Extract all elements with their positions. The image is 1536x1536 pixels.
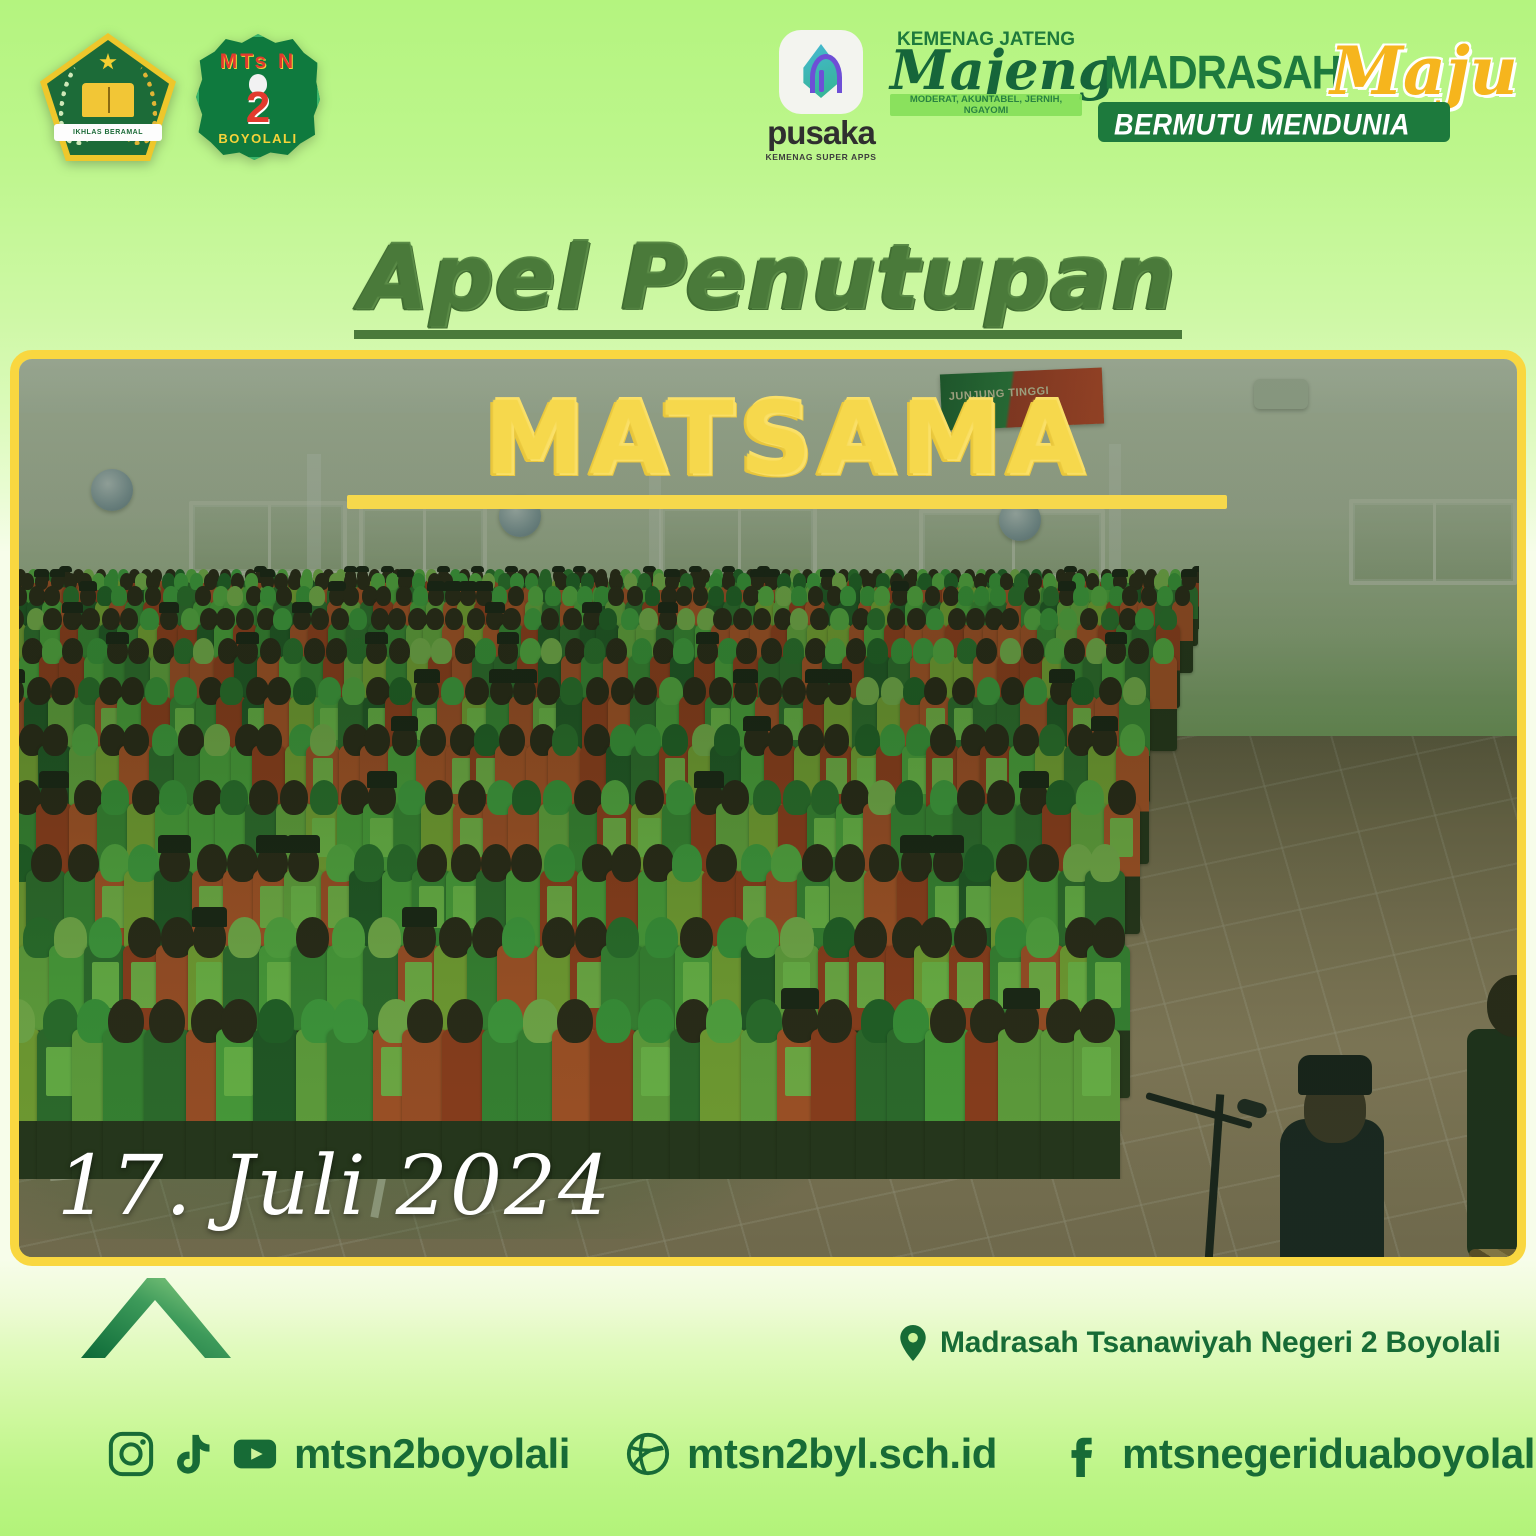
- student-hijab: [1135, 608, 1153, 631]
- peci-cap-icon: [1003, 988, 1041, 1009]
- student-head: [216, 608, 234, 631]
- peci-cap-icon: [827, 669, 852, 683]
- student-hijab: [309, 586, 325, 606]
- student-hijab: [204, 724, 230, 756]
- student-head: [508, 586, 524, 606]
- student-head: [499, 724, 525, 756]
- student-head: [425, 780, 453, 815]
- peci-cap-icon: [781, 988, 819, 1009]
- student-hijab: [645, 917, 678, 958]
- peci-cap-icon: [34, 569, 49, 577]
- student-hijab: [333, 999, 369, 1043]
- student-head: [736, 638, 757, 664]
- student-hijab: [349, 608, 367, 631]
- student-head: [511, 844, 542, 882]
- student-hijab: [606, 917, 639, 958]
- student-hijab: [990, 586, 1006, 606]
- student-head: [128, 638, 149, 664]
- peci-cap-icon: [1112, 569, 1127, 577]
- student-head: [943, 586, 959, 606]
- student-hijab: [1071, 677, 1094, 706]
- peci-cap-icon: [582, 602, 602, 613]
- student-hijab: [159, 780, 187, 815]
- student-hijab: [441, 677, 464, 706]
- student-head: [761, 638, 782, 664]
- website-globe-icon[interactable]: [625, 1431, 671, 1477]
- student-head: [930, 999, 966, 1043]
- peci-cap-icon: [459, 581, 477, 590]
- peci-cap-icon: [19, 669, 25, 683]
- student-hijab: [632, 638, 653, 664]
- student-hijab: [1159, 608, 1177, 631]
- student-hijab: [708, 586, 724, 606]
- student-name-tag: [1082, 1047, 1111, 1096]
- student-hijab: [1024, 677, 1047, 706]
- student-head: [680, 917, 713, 958]
- peci-cap-icon: [900, 835, 933, 853]
- student-hijab: [544, 844, 575, 882]
- student-hijab: [907, 586, 923, 606]
- student-hijab: [964, 844, 995, 882]
- student-name-tag: [46, 1047, 75, 1096]
- student-head: [924, 677, 947, 706]
- student-head: [396, 586, 412, 606]
- peci-cap-icon: [158, 835, 191, 853]
- student-hijab: [1039, 724, 1065, 756]
- peci-cap-icon: [750, 569, 765, 577]
- student-crowd: [19, 559, 1199, 1179]
- student-hijab: [545, 586, 561, 606]
- madrasah-maju-logo: MADRASAH Maju BERMUTU MENDUNIA: [1098, 36, 1498, 156]
- student-hijab: [662, 724, 688, 756]
- student-hijab: [677, 608, 695, 631]
- student-head: [417, 844, 448, 882]
- student-head: [280, 780, 308, 815]
- peci-cap-icon: [292, 602, 312, 613]
- peci-cap-icon: [414, 669, 439, 683]
- majeng-tagline: MODERAT, AKUNTABEL, JERNIH, NGAYOMI: [890, 94, 1082, 116]
- pusaka-p-stem-icon: [819, 70, 824, 92]
- student-head: [976, 638, 997, 664]
- student-head: [709, 677, 732, 706]
- student-head: [954, 917, 987, 958]
- kemenag-ribbon: IKHLAS BERAMAL: [54, 124, 162, 141]
- student-name-tag: [785, 1047, 814, 1096]
- student-head: [608, 586, 624, 606]
- student-head: [502, 608, 520, 631]
- side-teacher-top: [1467, 1029, 1517, 1257]
- student-head: [948, 608, 966, 631]
- student-hijab: [791, 586, 807, 606]
- student-head: [120, 608, 138, 631]
- student-hijab: [926, 608, 944, 631]
- student-head: [854, 917, 887, 958]
- chevron-up-decoration: [75, 1272, 235, 1364]
- peci-cap-icon: [79, 581, 97, 590]
- student-head: [445, 608, 463, 631]
- social-group-facebook: mtsnegeriduaboyolali: [1060, 1430, 1536, 1478]
- student-hijab: [111, 586, 127, 606]
- pusaka-app-tile: [779, 30, 863, 114]
- student-head: [606, 638, 627, 664]
- student-head: [611, 844, 642, 882]
- student-head: [1064, 638, 1085, 664]
- peci-cap-icon: [743, 716, 771, 731]
- student-head: [149, 999, 185, 1043]
- student-head: [1024, 586, 1040, 606]
- student-hijab: [706, 999, 742, 1043]
- student-hijab: [431, 638, 452, 664]
- student-hijab: [354, 844, 385, 882]
- student-head: [51, 677, 74, 706]
- student-figure: [998, 1029, 1045, 1179]
- student-head: [557, 999, 593, 1043]
- peci-cap-icon: [62, 602, 82, 613]
- student-name-tag: [224, 1047, 253, 1096]
- student-head: [713, 608, 731, 631]
- student-hijab: [596, 999, 632, 1043]
- student-hijab: [874, 586, 890, 606]
- student-head: [808, 586, 824, 606]
- student-head: [683, 677, 706, 706]
- instagram-icon[interactable]: [108, 1431, 154, 1477]
- peci-cap-icon: [236, 632, 259, 644]
- student-head: [930, 724, 956, 756]
- student-head: [123, 724, 149, 756]
- student-hijab: [193, 638, 214, 664]
- student-head: [1128, 638, 1149, 664]
- student-hijab: [891, 638, 912, 664]
- student-head: [221, 999, 257, 1043]
- student-head: [447, 999, 483, 1043]
- chevron-up-icon: [75, 1272, 235, 1364]
- peci-cap-icon: [367, 771, 397, 788]
- matsama-title: MATSAMA: [484, 389, 1090, 489]
- student-head: [376, 586, 392, 606]
- peci-cap-icon: [39, 771, 69, 788]
- student-head: [1092, 917, 1125, 958]
- mtsn2-boyolali-logo: MTs N 2 BOYOLALI: [196, 34, 320, 160]
- student-hijab: [368, 917, 401, 958]
- student-hijab: [389, 677, 412, 706]
- peci-cap-icon: [471, 566, 484, 572]
- student-head: [824, 724, 850, 756]
- student-head: [996, 844, 1027, 882]
- student-hijab: [601, 780, 629, 815]
- majeng-logo: KEMENAG JATENG Majeng MODERAT, AKUNTABEL…: [890, 30, 1082, 160]
- student-hijab: [293, 677, 316, 706]
- location-row: Madrasah Tsanawiyah Negeri 2 Boyolali: [900, 1325, 1501, 1361]
- student-hijab: [1091, 586, 1107, 606]
- student-hijab: [552, 724, 578, 756]
- student-head: [984, 724, 1010, 756]
- student-head: [1023, 638, 1044, 664]
- student-hijab: [1153, 638, 1174, 664]
- peci-cap-icon: [397, 569, 412, 577]
- student-hijab: [227, 586, 243, 606]
- student-head: [1079, 999, 1115, 1043]
- peci-cap-icon: [1181, 569, 1196, 577]
- student-head: [388, 608, 406, 631]
- student-figure: [811, 1029, 858, 1179]
- youtube-icon[interactable]: [232, 1431, 278, 1477]
- student-head: [276, 586, 292, 606]
- student-hijab: [783, 638, 804, 664]
- student-hijab: [502, 917, 535, 958]
- student-figure: [1150, 655, 1177, 751]
- student-head: [835, 844, 866, 882]
- social-group-handles: mtsn2boyolali: [108, 1430, 570, 1478]
- peci-cap-icon: [427, 581, 445, 590]
- peci-cap-icon: [485, 602, 505, 613]
- peci-cap-icon: [696, 632, 719, 644]
- student-hijab: [332, 917, 365, 958]
- hall-window: [1349, 499, 1517, 585]
- student-head: [81, 608, 99, 631]
- peci-cap-icon: [489, 669, 514, 683]
- maju-accent-word: Maju: [1330, 32, 1518, 110]
- student-head: [1175, 586, 1191, 606]
- student-hijab: [974, 586, 990, 606]
- pusaka-p-glyph-icon: [810, 54, 842, 93]
- school-logo-top-text: MTs N: [196, 50, 320, 74]
- peci-cap-icon: [287, 835, 320, 853]
- student-hijab: [1090, 844, 1121, 882]
- peci-cap-icon: [1064, 566, 1077, 572]
- peci-cap-icon: [475, 581, 493, 590]
- student-head: [43, 608, 61, 631]
- student-hijab: [560, 677, 583, 706]
- student-head: [256, 724, 282, 756]
- student-head: [44, 586, 60, 606]
- student-hijab: [1046, 780, 1074, 815]
- student-head: [465, 677, 488, 706]
- student-hijab: [867, 638, 888, 664]
- student-head: [952, 677, 975, 706]
- peci-cap-icon: [512, 669, 537, 683]
- student-hijab: [220, 780, 248, 815]
- student-head: [1122, 586, 1138, 606]
- peci-cap-icon: [260, 569, 275, 577]
- peci-cap-icon: [159, 602, 179, 613]
- peci-cap-icon: [1105, 632, 1128, 644]
- student-hijab: [1123, 677, 1146, 706]
- student-hijab: [714, 724, 740, 756]
- student-hijab: [413, 586, 429, 606]
- tiktok-icon[interactable]: [170, 1431, 216, 1477]
- student-hijab: [1043, 586, 1059, 606]
- header-logo-bar: IKHLAS BERAMAL MTs N 2 BOYOLALI pusaka K…: [0, 0, 1536, 180]
- student-head: [802, 844, 833, 882]
- student-head: [1080, 608, 1098, 631]
- student-head: [236, 608, 254, 631]
- majeng-script-wordmark: Majeng: [890, 45, 1082, 96]
- student-head: [467, 608, 485, 631]
- peci-cap-icon: [891, 581, 909, 590]
- page-title-container: Apel Penutupan: [0, 232, 1536, 339]
- student-head: [108, 999, 144, 1043]
- student-head: [768, 724, 794, 756]
- student-hijab: [140, 608, 158, 631]
- student-hijab: [258, 999, 294, 1043]
- student-head: [563, 608, 581, 631]
- student-head: [127, 586, 143, 606]
- student-head: [407, 999, 443, 1043]
- student-hijab: [260, 586, 276, 606]
- peci-cap-icon: [1091, 716, 1119, 731]
- speaker-person: [1274, 1041, 1392, 1257]
- madrasah-word: MADRASAH: [1104, 46, 1341, 100]
- student-hijab: [895, 780, 923, 815]
- bermutu-mendunia-text: BERMUTU MENDUNIA: [1114, 108, 1410, 142]
- student-hijab: [220, 677, 243, 706]
- student-hijab: [867, 608, 885, 631]
- social-handle-instagram[interactable]: mtsn2boyolali: [294, 1430, 570, 1478]
- peci-cap-icon: [256, 835, 289, 853]
- student-hijab: [475, 638, 496, 664]
- student-hijab: [811, 780, 839, 815]
- school-logo-number: 2: [196, 86, 320, 130]
- peci-cap-icon: [694, 771, 724, 788]
- pusaka-wordmark: pusaka: [762, 116, 880, 149]
- student-hijab: [933, 638, 954, 664]
- pusaka-subtitle: KEMENAG SUPER APPS: [762, 152, 880, 162]
- student-head: [267, 677, 290, 706]
- student-head: [693, 586, 709, 606]
- student-head: [541, 608, 559, 631]
- student-head: [706, 844, 737, 882]
- student-hijab: [856, 677, 879, 706]
- student-head: [42, 724, 68, 756]
- student-head: [364, 724, 390, 756]
- student-hijab: [54, 917, 87, 958]
- student-head: [62, 638, 83, 664]
- location-pin-icon: [900, 1325, 926, 1361]
- peci-cap-icon: [733, 669, 758, 683]
- student-hijab: [599, 608, 617, 631]
- peci-cap-icon: [328, 581, 346, 590]
- student-head: [919, 917, 952, 958]
- student-hijab: [639, 608, 657, 631]
- student-hijab: [635, 724, 661, 756]
- page-title: Apel Penutupan: [354, 232, 1182, 339]
- student-head: [634, 677, 657, 706]
- student-head: [925, 586, 941, 606]
- student-hijab: [584, 638, 605, 664]
- side-teacher-head: [1487, 975, 1517, 1037]
- student-hijab: [181, 608, 199, 631]
- student-head: [31, 844, 62, 882]
- peci-cap-icon: [1049, 669, 1074, 683]
- student-head: [957, 780, 985, 815]
- student-head: [1029, 844, 1060, 882]
- student-head: [586, 677, 609, 706]
- student-hijab: [1076, 780, 1104, 815]
- student-hijab: [228, 917, 261, 958]
- peci-cap-icon: [573, 566, 586, 572]
- student-hijab: [790, 608, 808, 631]
- student-head: [458, 780, 486, 815]
- student-head: [987, 780, 1015, 815]
- social-footer: mtsn2boyolali mtsn2byl.sch.id mtsnegerid…: [0, 1430, 1536, 1520]
- student-hijab: [673, 638, 694, 664]
- student-head: [810, 608, 828, 631]
- student-hijab: [528, 586, 544, 606]
- student-hijab: [840, 586, 856, 606]
- student-hijab: [1073, 586, 1089, 606]
- student-hijab: [1040, 608, 1058, 631]
- peci-cap-icon: [365, 632, 388, 644]
- social-handle-facebook[interactable]: mtsnegeriduaboyolali: [1122, 1430, 1536, 1478]
- peci-cap-icon: [437, 566, 450, 572]
- student-hijab: [101, 780, 129, 815]
- student-hijab: [753, 780, 781, 815]
- peci-cap-icon: [1298, 1055, 1372, 1095]
- student-head: [343, 586, 359, 606]
- student-head: [627, 586, 643, 606]
- student-hijab: [893, 999, 929, 1043]
- student-head: [966, 608, 984, 631]
- student-head: [195, 586, 211, 606]
- facebook-icon[interactable]: [1060, 1431, 1106, 1477]
- student-hijab: [283, 638, 304, 664]
- social-group-website: mtsn2byl.sch.id: [625, 1430, 997, 1478]
- peci-cap-icon: [1019, 771, 1049, 788]
- student-head: [311, 608, 329, 631]
- student-head: [304, 638, 325, 664]
- peci-cap-icon: [402, 907, 437, 927]
- student-hijab: [1157, 586, 1173, 606]
- student-hijab: [174, 677, 197, 706]
- student-hijab: [543, 780, 571, 815]
- student-head: [721, 780, 749, 815]
- event-photo-frame: JUNJUNG TINGGI: [10, 350, 1526, 1266]
- student-hijab: [666, 780, 694, 815]
- student-hijab: [310, 724, 336, 756]
- poster-canvas: IKHLAS BERAMAL MTs N 2 BOYOLALI pusaka K…: [0, 0, 1536, 1536]
- student-head: [249, 780, 277, 815]
- student-hijab: [177, 586, 193, 606]
- student-hijab: [72, 724, 98, 756]
- student-hijab: [780, 917, 813, 958]
- peci-cap-icon: [932, 835, 965, 853]
- batik-skirt: [1469, 1249, 1517, 1257]
- peci-cap-icon: [664, 569, 679, 577]
- student-head: [817, 999, 853, 1043]
- peci-cap-icon: [356, 566, 369, 572]
- matsama-underline-bar: [347, 495, 1227, 509]
- student-hijab: [726, 586, 742, 606]
- student-head: [733, 608, 751, 631]
- kemenag-ribbon-text: IKHLAS BERAMAL: [54, 124, 162, 141]
- peci-cap-icon: [391, 716, 419, 731]
- student-hijab: [1120, 724, 1146, 756]
- student-head: [846, 638, 867, 664]
- student-hijab: [1026, 917, 1059, 958]
- student-head: [887, 608, 905, 631]
- student-hijab: [512, 780, 540, 815]
- peci-cap-icon: [50, 569, 65, 577]
- side-teacher-figure: [1467, 959, 1517, 1257]
- social-handle-website[interactable]: mtsn2byl.sch.id: [687, 1430, 997, 1478]
- student-head: [676, 586, 692, 606]
- student-hijab: [672, 844, 703, 882]
- peci-cap-icon: [497, 632, 520, 644]
- event-date: 17. Juli 2024: [57, 1139, 612, 1234]
- student-hijab: [1000, 638, 1021, 664]
- quran-book-icon: [82, 83, 134, 117]
- student-head: [420, 724, 446, 756]
